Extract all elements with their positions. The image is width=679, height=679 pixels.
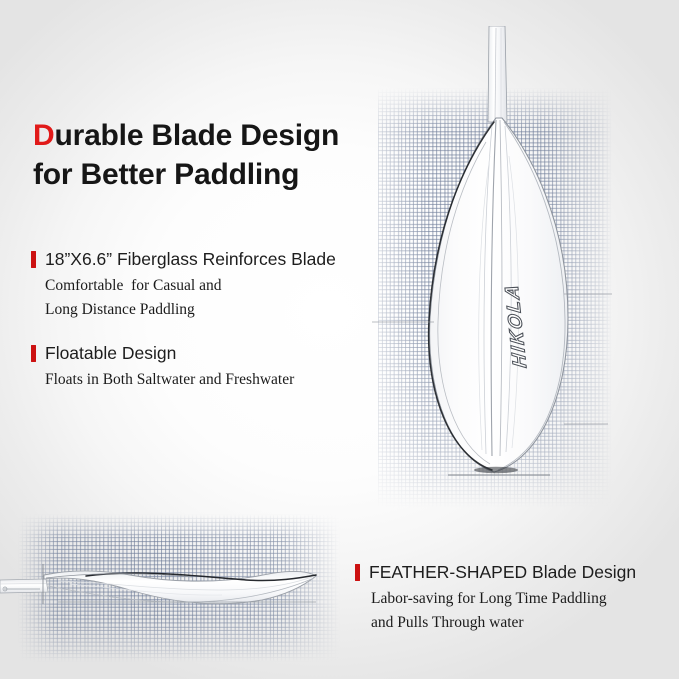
title-drop-cap: D [33, 119, 54, 152]
paddle-shaft [488, 26, 507, 122]
feature-subtext-line-2: Long Distance Paddling [45, 298, 336, 322]
feature-subtext-line-1: Comfortable for Casual and [45, 274, 336, 298]
feature-heading: Floatable Design [31, 343, 294, 363]
title-line-1: Durable Blade Design [33, 116, 378, 155]
feature-heading: 18”X6.6” Fiberglass Reinforces Blade [31, 249, 336, 269]
feature-block-floatable: Floatable Design Floats in Both Saltwate… [31, 343, 294, 392]
feature-subtext-line-1: Floats in Both Saltwater and Freshwater [45, 368, 294, 392]
feature-heading-text: 18”X6.6” Fiberglass Reinforces Blade [45, 249, 336, 269]
feature-subtext-line-1: Labor-saving for Long Time Paddling [371, 587, 636, 611]
title-line-1-rest: urable Blade Design [54, 119, 339, 152]
feature-heading-text: Floatable Design [45, 343, 176, 363]
feature-heading: FEATHER-SHAPED Blade Design [355, 562, 636, 582]
feature-subtext-line-2: and Pulls Through water [371, 611, 636, 635]
feature-block-fiberglass: 18”X6.6” Fiberglass Reinforces Blade Com… [31, 249, 336, 322]
feature-heading-text: FEATHER-SHAPED Blade Design [369, 562, 636, 582]
paddle-blade-outline [430, 118, 568, 472]
paddle-shaft-side [0, 579, 48, 593]
blade-side-illustration [0, 520, 346, 650]
bullet-marker-icon [31, 251, 36, 268]
blade-front-illustration: HIKOLA [372, 26, 612, 496]
infographic-canvas: HIKOLA [0, 0, 679, 679]
bullet-marker-icon [355, 564, 360, 581]
bullet-marker-icon [31, 345, 36, 362]
title-line-2: for Better Paddling [33, 155, 378, 194]
feature-block-feather-shaped: FEATHER-SHAPED Blade Design Labor-saving… [355, 562, 636, 635]
page-title: Durable Blade Design for Better Paddling [33, 116, 378, 194]
